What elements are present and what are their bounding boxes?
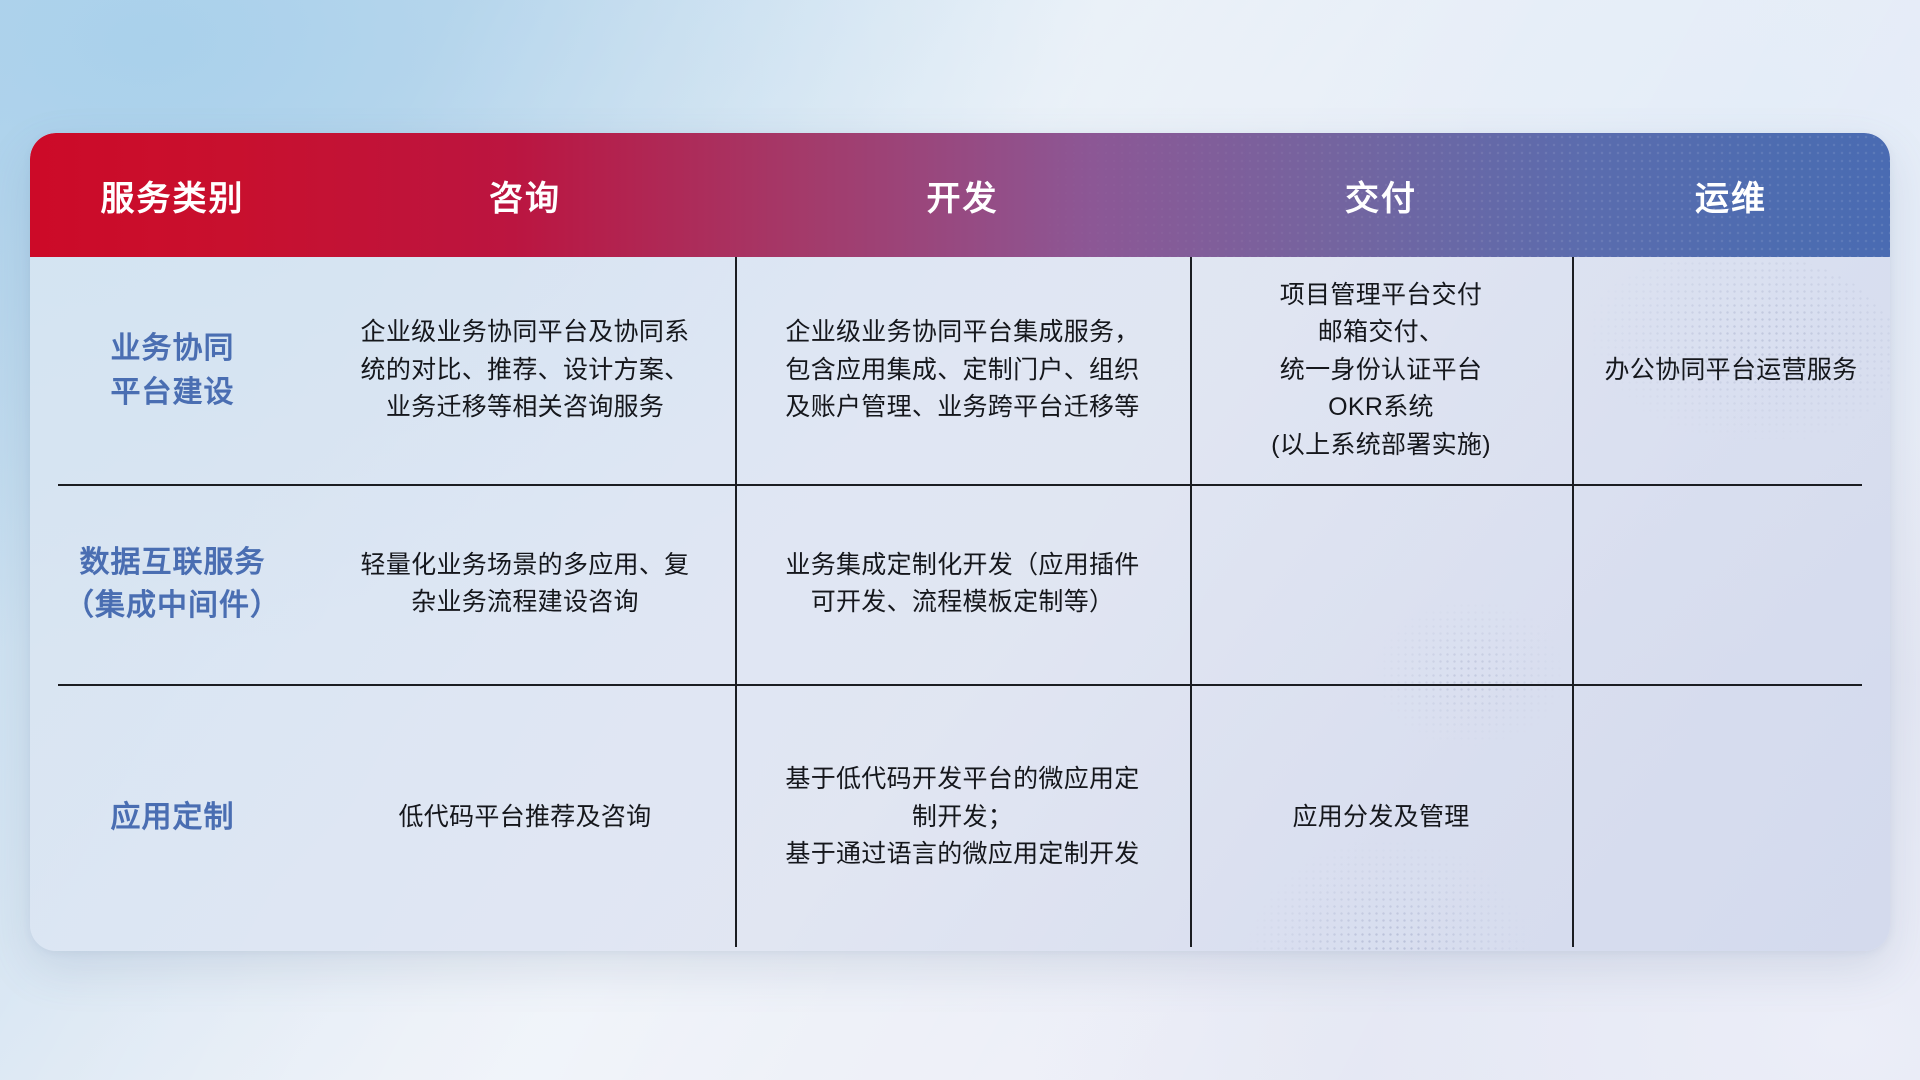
table-row: 应用分发及管理 xyxy=(1190,684,1572,951)
cell-operations: 办公协同平台运营服务 xyxy=(1604,352,1857,390)
table-row: 办公协同平台运营服务 xyxy=(1572,257,1890,484)
cell-delivery: 应用分发及管理 xyxy=(1292,799,1469,837)
table-row: 业务协同 平台建设 xyxy=(30,257,315,484)
service-matrix-table: 服务类别 咨询 开发 交付 运维 业务协同 平台建设 企业级业务协同平台及协同系… xyxy=(30,133,1890,951)
column-header-delivery: 交付 xyxy=(1190,171,1572,220)
table-header-row: 服务类别 咨询 开发 交付 运维 xyxy=(30,133,1890,257)
cell-category: 业务协同 平台建设 xyxy=(111,327,235,414)
table-row: 低代码平台推荐及咨询 xyxy=(315,684,735,951)
column-header-operations: 运维 xyxy=(1572,171,1890,220)
cell-category: 数据互联服务 （集成中间件） xyxy=(64,541,281,628)
cell-consulting: 企业级业务协同平台及协同系 统的对比、推荐、设计方案、 业务迁移等相关咨询服务 xyxy=(361,314,690,427)
cell-development: 业务集成定制化开发（应用插件 可开发、流程模板定制等） xyxy=(785,547,1139,622)
table-row: 数据互联服务 （集成中间件） xyxy=(30,484,315,684)
cell-consulting: 轻量化业务场景的多应用、复 杂业务流程建设咨询 xyxy=(361,547,690,622)
table-row: 业务集成定制化开发（应用插件 可开发、流程模板定制等） xyxy=(735,484,1190,684)
table-row: 轻量化业务场景的多应用、复 杂业务流程建设咨询 xyxy=(315,484,735,684)
cell-delivery: 项目管理平台交付 邮箱交付、 统一身份认证平台 OKR系统 (以上系统部署实施) xyxy=(1271,277,1491,465)
table-row: 项目管理平台交付 邮箱交付、 统一身份认证平台 OKR系统 (以上系统部署实施) xyxy=(1190,257,1572,484)
table-row: 基于低代码开发平台的微应用定 制开发； 基于通过语言的微应用定制开发 xyxy=(735,684,1190,951)
service-matrix-card: 服务类别 咨询 开发 交付 运维 业务协同 平台建设 企业级业务协同平台及协同系… xyxy=(30,133,1890,951)
table-row: 企业级业务协同平台及协同系 统的对比、推荐、设计方案、 业务迁移等相关咨询服务 xyxy=(315,257,735,484)
table-row: 应用定制 xyxy=(30,684,315,951)
cell-development: 企业级业务协同平台集成服务， 包含应用集成、定制门户、组织 及账户管理、业务跨平… xyxy=(785,314,1139,427)
table-row xyxy=(1572,684,1890,951)
table-row: 企业级业务协同平台集成服务， 包含应用集成、定制门户、组织 及账户管理、业务跨平… xyxy=(735,257,1190,484)
table-row xyxy=(1190,484,1572,684)
cell-consulting: 低代码平台推荐及咨询 xyxy=(398,799,651,837)
cell-category: 应用定制 xyxy=(111,796,235,840)
table-row xyxy=(1572,484,1890,684)
column-header-development: 开发 xyxy=(735,171,1190,220)
column-header-service-category: 服务类别 xyxy=(30,171,315,220)
cell-development: 基于低代码开发平台的微应用定 制开发； 基于通过语言的微应用定制开发 xyxy=(785,761,1139,874)
column-header-consulting: 咨询 xyxy=(315,171,735,220)
